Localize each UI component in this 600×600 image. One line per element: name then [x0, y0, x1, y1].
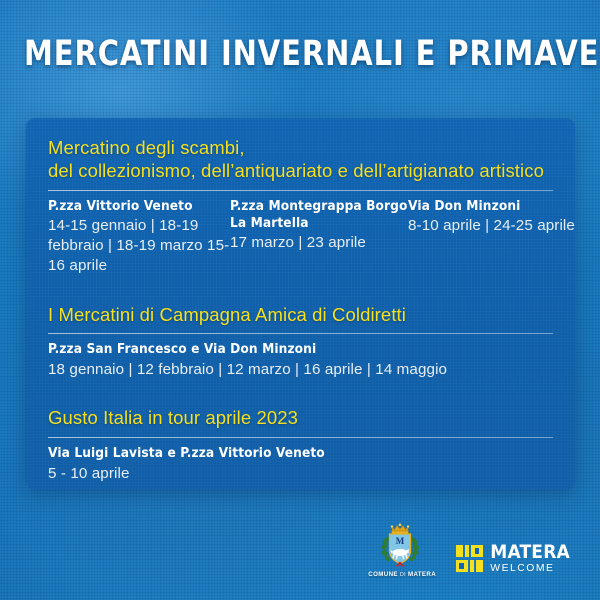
comune-caption-di: DI [400, 572, 406, 578]
svg-text:M: M [396, 536, 405, 546]
section-gusto-italia: Gusto Italia in tour aprile 2023 Via Lui… [48, 406, 553, 484]
content-panel: Mercatino degli scambi, del collezionism… [26, 118, 575, 490]
comune-caption: COMUNE DI MATERA [368, 571, 432, 578]
venue-dates: 5 - 10 aprile [48, 464, 553, 484]
venue-name: Via Don Minzoni [408, 198, 575, 215]
section-3-divider [48, 437, 553, 438]
venue-name: Via Luigi Lavista e P.zza Vittorio Venet… [48, 445, 553, 462]
footer-logos: M COMUNE [368, 523, 570, 578]
section-1-title-line-1: Mercatino degli scambi, [48, 136, 553, 159]
matera-welcome-mark-icon [456, 545, 483, 572]
section-campagna-amica: I Mercatini di Campagna Amica di Coldire… [48, 303, 553, 381]
venue-column: Via Don Minzoni 8-10 aprile | 24-25 apri… [408, 198, 575, 277]
comune-caption-matera: MATERA [408, 571, 436, 578]
section-3-title: Gusto Italia in tour aprile 2023 [48, 406, 553, 429]
venue-column: P.zza Vittorio Veneto 14-15 gennaio | 18… [48, 198, 230, 277]
venue-column: P.zza Montegrappa Borgo La Martella 17 m… [230, 198, 408, 277]
footer: M COMUNE [0, 516, 600, 586]
venue-dates: 18 gennaio | 12 febbraio | 12 marzo | 16… [48, 360, 553, 380]
venue-dates: 14-15 gennaio | 18-19 febbraio | 18-19 m… [48, 216, 230, 277]
matera-welcome-text: MATERA WELCOME [490, 543, 570, 574]
section-1-title: Mercatino degli scambi, del collezionism… [48, 136, 553, 183]
section-1-divider [48, 190, 553, 191]
section-mercatino-scambi: Mercatino degli scambi, del collezionism… [48, 136, 553, 277]
venue-name: P.zza Vittorio Veneto [48, 198, 230, 215]
venue-name: P.zza Montegrappa Borgo La Martella [230, 198, 408, 233]
matera-welcome-subtitle: WELCOME [490, 564, 570, 574]
coat-of-arms-icon: M [375, 523, 425, 569]
poster-root: MERCATINI INVERNALI E PRIMAVERILI Mercat… [0, 0, 600, 600]
venue-name: P.zza San Francesco e Via Don Minzoni [48, 341, 553, 358]
matera-welcome-title: MATERA [490, 543, 570, 562]
comune-caption-main: COMUNE [368, 571, 398, 578]
comune-di-matera-logo: M COMUNE [368, 523, 432, 578]
section-2-title: I Mercatini di Campagna Amica di Coldire… [48, 303, 553, 326]
section-1-columns: P.zza Vittorio Veneto 14-15 gennaio | 18… [48, 198, 553, 277]
page-title: MERCATINI INVERNALI E PRIMAVERILI [24, 34, 576, 74]
matera-welcome-logo: MATERA WELCOME [456, 543, 570, 578]
section-1-title-line-2: del collezionismo, dell’antiquariato e d… [48, 159, 553, 182]
venue-dates: 17 marzo | 23 aprile [230, 233, 408, 253]
section-2-divider [48, 333, 553, 334]
venue-dates: 8-10 aprile | 24-25 aprile | 30 aprile 1… [408, 216, 575, 236]
